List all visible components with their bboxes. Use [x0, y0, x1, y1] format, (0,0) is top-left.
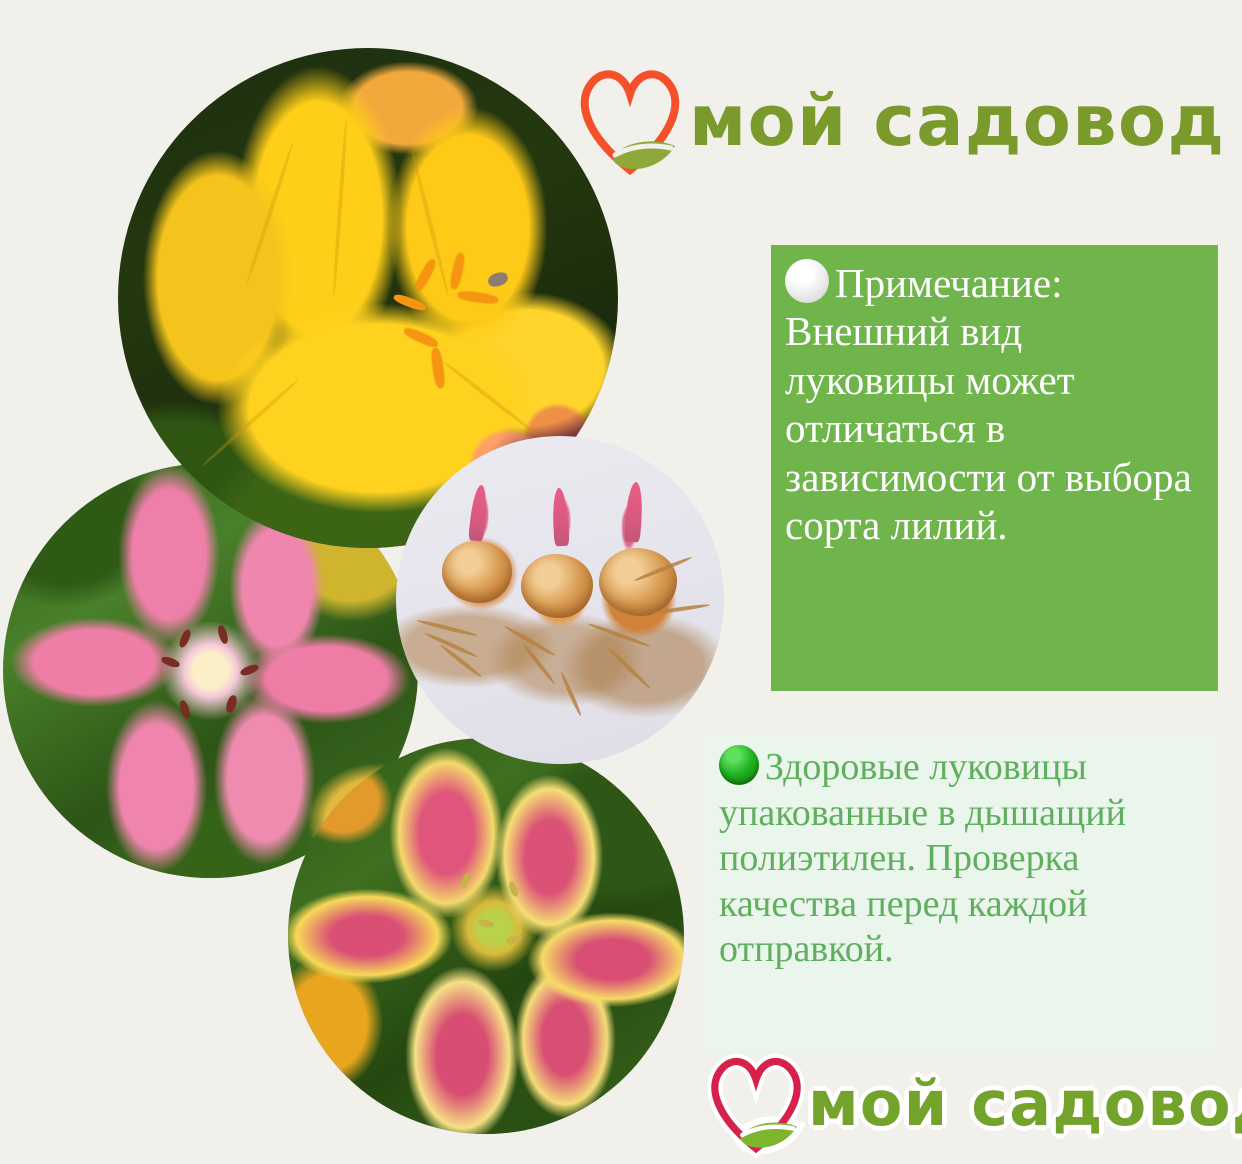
quality-box: Здоровые луковицы упакованные в дышащий … — [703, 733, 1218, 1053]
brand-wordmark-bottom: мой садовод — [808, 1073, 1242, 1135]
note-box-body: Примечание: Внешний вид луковицы может о… — [785, 259, 1202, 549]
brand-logo-top[interactable]: мой садовод — [575, 62, 1225, 180]
green-circle-icon — [719, 745, 759, 785]
note-heading: Примечание: — [835, 260, 1062, 306]
lily-bulbs-photo — [396, 436, 724, 764]
note-text: Внешний вид луковицы может отличаться в … — [785, 308, 1192, 548]
brand-logo-bottom[interactable]: мой садовод — [706, 1050, 1242, 1158]
promo-card: мой садовод Примечание: Внешний вид луко… — [0, 0, 1242, 1164]
bicolor-lily-image — [288, 738, 684, 1134]
logo-mark-bottom — [706, 1050, 806, 1158]
heart-leaf-icon — [706, 1050, 806, 1158]
bicolor-lily-photo — [288, 738, 684, 1134]
quality-box-body: Здоровые луковицы упакованные в дышащий … — [719, 745, 1204, 973]
quality-text: Здоровые луковицы упакованные в дышащий … — [719, 746, 1126, 970]
note-box: Примечание: Внешний вид луковицы может о… — [771, 245, 1218, 691]
lily-bulbs-image — [396, 436, 724, 764]
brand-wordmark-top: мой садовод — [689, 86, 1225, 156]
white-circle-icon — [785, 259, 829, 303]
